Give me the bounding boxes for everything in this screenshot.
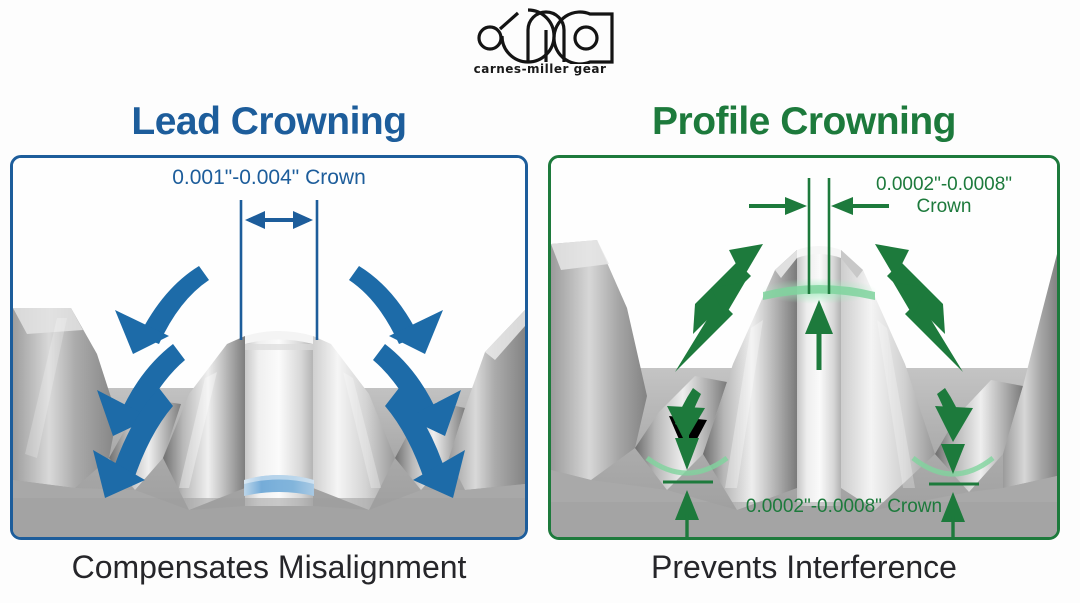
- dimension-label-lead: 0.001"-0.004" Crown: [13, 166, 525, 190]
- lead-crowning-illustration: [13, 158, 525, 537]
- panel-title-lead-crowning: Lead Crowning: [10, 100, 528, 144]
- brand-logo: carnes-miller gear: [0, 8, 1080, 76]
- dimension-label-tip: 0.0002"-0.0008" Crown: [837, 174, 1051, 218]
- cmg-logo-icon: [456, 8, 624, 64]
- panel-lead-crowning: 0.001"-0.004" Crown: [10, 155, 528, 540]
- panel-profile-crowning: 0.0002"-0.0008" Crown 0.0002"-0.0008" Cr…: [548, 155, 1060, 540]
- caption-prevents-interference: Prevents Interference: [548, 549, 1060, 586]
- dimension-label-tip-line1: 0.0002"-0.0008": [837, 174, 1051, 196]
- panel-title-profile-crowning: Profile Crowning: [548, 100, 1060, 144]
- dimension-label-tip-line2: Crown: [837, 196, 1051, 218]
- dimension-label-root: 0.0002"-0.0008" Crown: [689, 496, 999, 518]
- caption-compensates-misalignment: Compensates Misalignment: [10, 549, 528, 586]
- infographic-root: carnes-miller gear Lead Crowning Profile…: [0, 0, 1080, 603]
- logo-wordmark: carnes-miller gear: [474, 62, 607, 76]
